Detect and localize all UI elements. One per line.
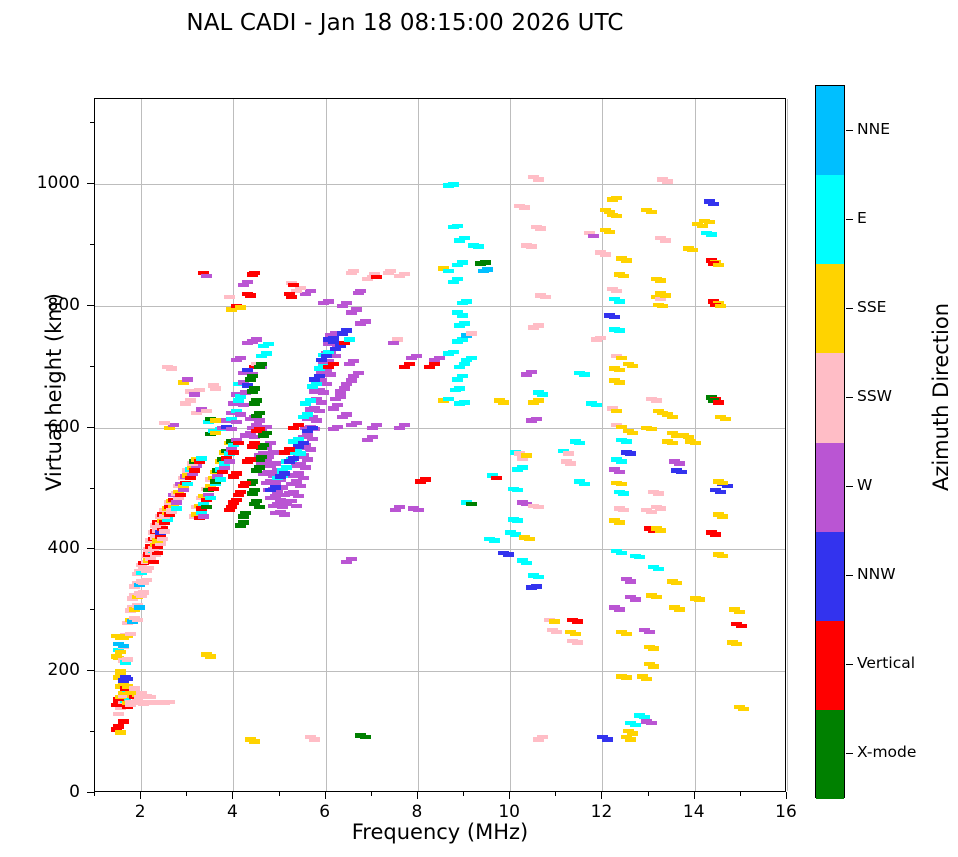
data-point: [279, 471, 290, 476]
data-point: [621, 632, 632, 637]
data-point: [344, 337, 355, 342]
gridline-vertical: [787, 99, 788, 791]
x-tick-major: [140, 792, 141, 799]
data-point: [145, 695, 156, 700]
data-point: [690, 441, 701, 446]
data-point: [503, 552, 514, 557]
colorbar-label-nne: NNE: [857, 120, 890, 138]
y-tick-major: [87, 670, 94, 671]
data-point: [738, 707, 749, 712]
data-point: [339, 386, 350, 391]
data-point: [646, 210, 657, 215]
data-point: [261, 351, 272, 356]
data-point: [533, 323, 544, 328]
data-point: [159, 421, 170, 426]
data-point: [311, 382, 322, 387]
data-point: [316, 400, 327, 405]
data-point: [429, 362, 440, 367]
data-point: [625, 737, 636, 742]
data-point: [224, 459, 235, 464]
data-point: [226, 505, 237, 510]
data-point: [489, 538, 500, 543]
data-point: [341, 412, 352, 417]
data-point: [284, 447, 295, 452]
y-tick-minor: [90, 731, 94, 732]
x-tick-label: 6: [295, 802, 355, 822]
data-point: [614, 520, 625, 525]
data-point: [198, 514, 209, 519]
data-point: [122, 677, 133, 682]
data-point: [346, 378, 357, 383]
data-point: [648, 664, 659, 669]
data-point: [251, 337, 262, 342]
data-point: [694, 597, 705, 602]
data-point: [466, 356, 477, 361]
data-point: [226, 427, 237, 432]
data-point: [713, 400, 724, 405]
data-point: [394, 505, 405, 510]
data-point: [655, 506, 666, 511]
ionogram-figure: NAL CADI - Jan 18 08:15:00 2026 UTC 2468…: [0, 0, 958, 857]
data-point: [611, 289, 622, 294]
data-point: [625, 451, 636, 456]
data-point: [715, 490, 726, 495]
colorbar-segment-nne: [816, 86, 844, 175]
data-point: [448, 182, 459, 187]
data-point: [353, 371, 364, 376]
data-point: [457, 337, 468, 342]
data-point: [600, 252, 611, 257]
colorbar-title: Azimuth Direction: [929, 267, 953, 527]
data-point: [480, 260, 491, 265]
data-point: [604, 210, 615, 215]
x-tick-major: [694, 792, 695, 799]
data-point: [360, 319, 371, 324]
data-point: [572, 619, 583, 624]
data-point: [526, 370, 537, 375]
colorbar-tick: [846, 130, 853, 131]
data-point: [268, 450, 279, 455]
data-point: [399, 423, 410, 428]
data-point: [286, 499, 297, 504]
data-point: [537, 735, 548, 740]
data-point: [314, 409, 325, 414]
data-point: [614, 607, 625, 612]
data-point: [205, 654, 216, 659]
data-point: [219, 465, 230, 470]
data-point: [351, 307, 362, 312]
y-tick-major: [87, 548, 94, 549]
data-point: [466, 331, 477, 336]
data-point: [653, 567, 664, 572]
data-point: [205, 496, 216, 501]
data-point: [399, 272, 410, 277]
plot-area: [94, 98, 786, 792]
data-point: [240, 481, 251, 486]
data-point: [549, 619, 560, 624]
data-point: [498, 400, 509, 405]
data-point: [328, 336, 339, 341]
colorbar-segment-x-mode: [816, 710, 844, 799]
data-point: [616, 425, 627, 430]
data-point: [305, 398, 316, 403]
data-point: [618, 274, 629, 279]
data-point: [240, 511, 251, 516]
data-point: [482, 267, 493, 272]
data-point: [627, 364, 638, 369]
x-tick-label: 16: [756, 802, 816, 822]
data-point: [533, 575, 544, 580]
data-point: [122, 657, 133, 662]
y-tick-major: [87, 792, 94, 793]
data-point: [298, 441, 309, 446]
data-point: [134, 605, 145, 610]
data-point: [634, 555, 645, 560]
data-point: [194, 388, 205, 393]
data-point: [314, 374, 325, 379]
data-point: [537, 392, 548, 397]
x-tick-major: [417, 792, 418, 799]
y-tick-major: [87, 183, 94, 184]
y-tick-minor: [90, 122, 94, 123]
data-point: [491, 476, 502, 481]
data-point: [307, 426, 318, 431]
data-point: [113, 724, 124, 729]
data-point: [251, 398, 262, 403]
data-point: [646, 427, 657, 432]
chart-title: NAL CADI - Jan 18 08:15:00 2026 UTC: [0, 10, 810, 36]
data-point: [521, 561, 532, 566]
data-point: [245, 293, 256, 298]
data-point: [233, 441, 244, 446]
x-tick-label: 14: [664, 802, 724, 822]
data-point: [611, 214, 622, 219]
data-point: [249, 441, 260, 446]
data-point: [355, 289, 366, 294]
data-point: [715, 304, 726, 309]
data-point: [231, 420, 242, 425]
data-point: [662, 179, 673, 184]
x-tick-minor: [463, 792, 464, 796]
data-point: [512, 518, 523, 523]
data-point: [521, 453, 532, 458]
y-tick-minor: [90, 366, 94, 367]
data-point: [298, 476, 309, 481]
colorbar-tick: [846, 486, 853, 487]
data-point: [533, 505, 544, 510]
data-point: [178, 488, 189, 493]
data-point: [604, 230, 615, 235]
x-tick-minor: [279, 792, 280, 796]
x-tick-label: 2: [110, 802, 170, 822]
data-point: [651, 398, 662, 403]
data-point: [182, 482, 193, 487]
data-point: [671, 581, 682, 586]
data-point: [115, 730, 126, 735]
data-point: [115, 636, 126, 641]
data-point: [201, 505, 212, 510]
data-point: [208, 487, 219, 492]
data-point: [367, 435, 378, 440]
data-point: [385, 269, 396, 274]
data-point: [201, 409, 212, 414]
data-point: [302, 457, 313, 462]
data-point: [616, 482, 627, 487]
data-point: [572, 640, 583, 645]
colorbar-segment-w: [816, 443, 844, 532]
data-point: [644, 630, 655, 635]
x-tick-minor: [648, 792, 649, 796]
data-point: [717, 554, 728, 559]
data-point: [247, 374, 258, 379]
data-point: [651, 595, 662, 600]
data-point: [655, 528, 666, 533]
x-tick-major: [786, 792, 787, 799]
data-point: [295, 451, 306, 456]
colorbar-label-ssw: SSW: [857, 387, 892, 405]
data-point: [231, 498, 242, 503]
data-point: [335, 394, 346, 399]
data-point: [459, 321, 470, 326]
data-point: [302, 412, 313, 417]
data-point: [563, 451, 574, 456]
data-point: [341, 301, 352, 306]
x-tick-minor: [555, 792, 556, 796]
data-point: [457, 313, 468, 318]
data-point: [323, 299, 334, 304]
x-tick-major: [325, 792, 326, 799]
data-point: [189, 468, 200, 473]
y-tick-label: 200: [20, 660, 80, 680]
data-point: [443, 397, 454, 402]
data-point: [254, 427, 265, 432]
data-point: [461, 299, 472, 304]
data-point: [531, 584, 542, 589]
data-point: [660, 238, 671, 243]
data-point: [138, 590, 149, 595]
data-point: [263, 342, 274, 347]
data-point: [351, 421, 362, 426]
data-point: [288, 283, 299, 288]
data-point: [113, 712, 124, 717]
data-point: [228, 450, 239, 455]
data-point: [459, 236, 470, 241]
data-point: [565, 461, 576, 466]
data-point: [245, 457, 256, 462]
data-points-layer: [95, 99, 785, 791]
data-point: [551, 630, 562, 635]
y-tick-minor: [90, 244, 94, 245]
data-point: [614, 328, 625, 333]
data-point: [641, 677, 652, 682]
data-point: [531, 417, 542, 422]
data-point: [249, 488, 260, 493]
data-point: [448, 350, 459, 355]
data-point: [591, 403, 602, 408]
data-point: [621, 439, 632, 444]
data-point: [625, 579, 636, 584]
data-point: [574, 441, 585, 446]
data-point: [256, 362, 267, 367]
x-tick-minor: [186, 792, 187, 796]
data-point: [348, 269, 359, 274]
data-point: [175, 493, 186, 498]
data-point: [182, 377, 193, 382]
data-point: [674, 461, 685, 466]
data-point: [708, 202, 719, 207]
colorbar-segment-vertical: [816, 621, 844, 710]
x-tick-label: 12: [571, 802, 631, 822]
x-tick-minor: [94, 792, 95, 796]
data-point: [614, 368, 625, 373]
data-point: [717, 481, 728, 486]
x-tick-label: 10: [479, 802, 539, 822]
data-point: [443, 269, 454, 274]
data-point: [614, 380, 625, 385]
data-point: [321, 354, 332, 359]
colorbar-label-e: E: [857, 209, 867, 227]
data-point: [251, 499, 262, 504]
data-point: [459, 362, 470, 367]
data-point: [717, 514, 728, 519]
data-point: [667, 415, 678, 420]
colorbar-tick: [846, 753, 853, 754]
data-point: [570, 632, 581, 637]
data-point: [196, 456, 207, 461]
y-tick-label: 0: [20, 782, 80, 802]
data-point: [630, 597, 641, 602]
data-point: [674, 607, 685, 612]
data-point: [159, 529, 170, 534]
x-tick-major: [509, 792, 510, 799]
data-point: [210, 418, 221, 423]
data-point: [657, 304, 668, 309]
data-point: [293, 494, 304, 499]
data-point: [609, 315, 620, 320]
data-point: [185, 476, 196, 481]
data-point: [452, 277, 463, 282]
data-point: [270, 461, 281, 466]
data-point: [653, 491, 664, 496]
data-point: [676, 470, 687, 475]
y-tick-minor: [90, 609, 94, 610]
data-point: [420, 477, 431, 482]
y-axis-label: Virtual height (km): [42, 262, 66, 522]
data-point: [256, 455, 267, 460]
data-point: [660, 293, 671, 298]
x-axis-label: Frequency (MHz): [94, 820, 786, 844]
data-point: [627, 731, 638, 736]
data-point: [595, 336, 606, 341]
data-point: [224, 295, 235, 300]
data-point: [286, 295, 297, 300]
colorbar-label-nnw: NNW: [857, 565, 896, 583]
data-point: [148, 560, 159, 565]
data-point: [254, 505, 265, 510]
data-point: [618, 491, 629, 496]
data-point: [341, 328, 352, 333]
data-point: [614, 299, 625, 304]
data-point: [655, 278, 666, 283]
data-point: [466, 502, 477, 507]
data-point: [533, 177, 544, 182]
data-point: [457, 260, 468, 265]
data-point: [235, 305, 246, 310]
data-point: [171, 500, 182, 505]
data-point: [618, 508, 629, 513]
data-point: [526, 244, 537, 249]
data-point: [360, 735, 371, 740]
data-point: [254, 411, 265, 416]
data-point: [630, 723, 641, 728]
data-point: [535, 226, 546, 231]
x-tick-minor: [740, 792, 741, 796]
data-point: [295, 484, 306, 489]
colorbar-segment-e: [816, 175, 844, 264]
data-point: [157, 537, 168, 542]
data-point: [459, 400, 470, 405]
data-point: [217, 470, 228, 475]
colorbar-tick: [846, 308, 853, 309]
data-point: [588, 234, 599, 239]
x-tick-major: [232, 792, 233, 799]
colorbar-segment-ssw: [816, 353, 844, 442]
data-point: [434, 356, 445, 361]
colorbar-segment-sse: [816, 264, 844, 353]
data-point: [706, 232, 717, 237]
x-tick-minor: [371, 792, 372, 796]
data-point: [404, 362, 415, 367]
data-point: [132, 618, 143, 623]
data-point: [293, 423, 304, 428]
data-point: [648, 646, 659, 651]
data-point: [579, 482, 590, 487]
data-point: [115, 669, 126, 674]
data-point: [254, 465, 265, 470]
y-tick-major: [87, 305, 94, 306]
data-point: [579, 372, 590, 377]
data-point: [238, 520, 249, 525]
data-point: [687, 248, 698, 253]
data-point: [164, 700, 175, 705]
data-point: [249, 271, 260, 276]
data-point: [524, 537, 535, 542]
data-point: [517, 465, 528, 470]
data-point: [621, 675, 632, 680]
x-tick-major: [601, 792, 602, 799]
colorbar-tick: [846, 219, 853, 220]
y-tick-major: [87, 427, 94, 428]
data-point: [348, 359, 359, 364]
colorbar: [815, 85, 845, 798]
data-point: [189, 392, 200, 397]
data-point: [457, 374, 468, 379]
data-point: [201, 274, 212, 279]
data-point: [171, 506, 182, 511]
data-point: [249, 739, 260, 744]
colorbar-segment-nnw: [816, 532, 844, 621]
data-point: [118, 719, 129, 724]
data-point: [452, 224, 463, 229]
data-point: [667, 441, 678, 446]
data-point: [704, 220, 715, 225]
data-point: [288, 456, 299, 461]
data-point: [646, 721, 657, 726]
data-point: [325, 372, 336, 377]
data-point: [710, 532, 721, 537]
data-point: [346, 557, 357, 562]
colorbar-tick: [846, 575, 853, 576]
